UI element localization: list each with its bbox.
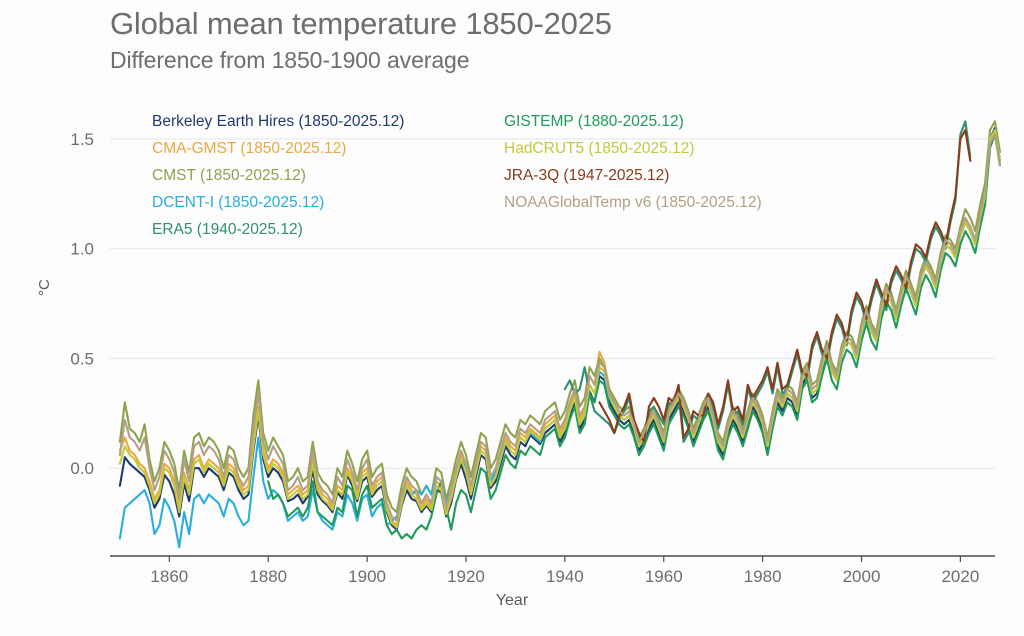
temperature-line-chart: 0.00.51.01.51860188019001920194019601980… [0, 0, 1024, 636]
legend-item-right-2[interactable]: JRA-3Q (1947-2025.12) [504, 162, 762, 189]
y-axis-label: °C [36, 279, 53, 296]
legend-item-right-3[interactable]: NOAAGlobalTemp v6 (1850-2025.12) [504, 189, 762, 216]
legend-item-left-3[interactable]: DCENT-I (1850-2025.12) [152, 189, 404, 216]
y-tick-label-2: 1.0 [70, 240, 94, 259]
legend-item-right-1[interactable]: HadCRUT5 (1850-2025.12) [504, 135, 762, 162]
y-tick-label-0: 0.0 [70, 459, 94, 478]
x-axis-label: Year [0, 592, 1024, 610]
x-tick-label-0: 1860 [150, 567, 188, 586]
x-tick-label-4: 1940 [546, 567, 584, 586]
x-tick-label-3: 1920 [447, 567, 485, 586]
legend-column-right: GISTEMP (1880-2025.12)HadCRUT5 (1850-202… [504, 108, 762, 216]
x-tick-label-7: 2000 [843, 567, 881, 586]
x-tick-label-2: 1900 [348, 567, 386, 586]
legend-item-left-1[interactable]: CMA-GMST (1850-2025.12) [152, 135, 404, 162]
legend-column-left: Berkeley Earth Hires (1850-2025.12)CMA-G… [152, 108, 404, 243]
legend-item-left-0[interactable]: Berkeley Earth Hires (1850-2025.12) [152, 108, 404, 135]
legend-item-left-4[interactable]: ERA5 (1940-2025.12) [152, 216, 404, 243]
legend-item-right-0[interactable]: GISTEMP (1880-2025.12) [504, 108, 762, 135]
y-tick-label-1: 0.5 [70, 349, 94, 368]
legend-item-left-2[interactable]: CMST (1850-2025.12) [152, 162, 404, 189]
y-tick-label-3: 1.5 [70, 130, 94, 149]
x-tick-label-6: 1980 [744, 567, 782, 586]
chart-container: Global mean temperature 1850-2025 Differ… [0, 0, 1024, 636]
x-tick-label-5: 1960 [645, 567, 683, 586]
x-tick-label-1: 1880 [249, 567, 287, 586]
x-tick-label-8: 2020 [941, 567, 979, 586]
